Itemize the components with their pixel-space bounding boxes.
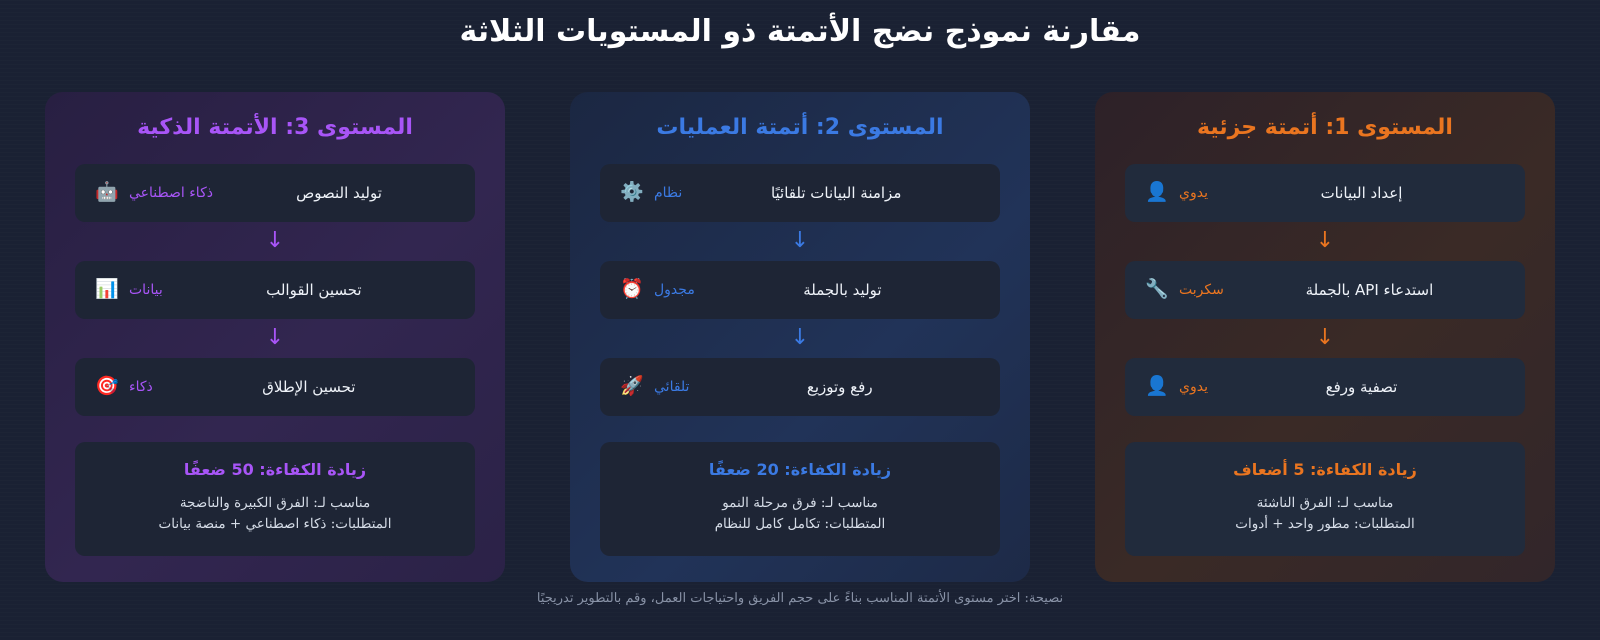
- flow-arrow-down-icon: ↓: [75, 319, 475, 358]
- level-card-3-step-2[interactable]: تحسين القوالب بيانات 📊: [75, 261, 475, 319]
- level-card-2-summary: زيادة الكفاءة: 20 ضعفًا مناسب لـ: فرق مر…: [600, 442, 1000, 556]
- suited-for-line: مناسب لـ: الفرق الناشئة: [1147, 493, 1503, 515]
- robot-icon: 🤖: [95, 183, 119, 202]
- rocket-icon: 🚀: [620, 377, 644, 396]
- level-card-1-step-3[interactable]: تصفية ورفع يدوي 👤: [1125, 358, 1525, 416]
- step-tag: بيانات: [129, 282, 163, 298]
- step-tag: نظام: [654, 185, 682, 201]
- flow-arrow-down-icon: ↓: [600, 319, 1000, 358]
- level-card-2-title: المستوى 2: أتمتة العمليات: [600, 114, 1000, 142]
- step-label: تصفية ورفع: [1218, 378, 1505, 396]
- level-card-2[interactable]: المستوى 2: أتمتة العمليات مزامنة البيانا…: [570, 92, 1030, 582]
- level-card-3-step-1[interactable]: توليد النصوص ذكاء اصطناعي 🤖: [75, 164, 475, 222]
- requirements-line: المتطلبات: تكامل كامل للنظام: [622, 514, 978, 536]
- level-card-3-summary: زيادة الكفاءة: 50 ضعفًا مناسب لـ: الفرق …: [75, 442, 475, 556]
- flow-arrow-down-icon: ↓: [1125, 319, 1525, 358]
- efficiency-headline: زيادة الكفاءة: 5 أضعاف: [1147, 460, 1503, 479]
- suited-for-line: مناسب لـ: فرق مرحلة النمو: [622, 493, 978, 515]
- page-title: مقارنة نموذج نضج الأتمتة ذو المستويات ال…: [0, 0, 1600, 51]
- level-card-2-step-1[interactable]: مزامنة البيانات تلقائيًا نظام ⚙️: [600, 164, 1000, 222]
- efficiency-headline: زيادة الكفاءة: 50 ضعفًا: [97, 460, 453, 479]
- step-label: تحسين الإطلاق: [163, 378, 455, 396]
- flow-arrow-down-icon: ↓: [600, 222, 1000, 261]
- step-label: رفع وتوزيع: [699, 378, 980, 396]
- level-card-3-step-3[interactable]: تحسين الإطلاق ذكاء 🎯: [75, 358, 475, 416]
- maturity-levels-row: المستوى 1: أتمتة جزئية إعداد البيانات يد…: [45, 92, 1555, 582]
- step-label: إعداد البيانات: [1218, 184, 1505, 202]
- step-label: توليد النصوص: [223, 184, 455, 202]
- step-label: مزامنة البيانات تلقائيًا: [692, 184, 980, 202]
- requirements-line: المتطلبات: مطور واحد + أدوات: [1147, 514, 1503, 536]
- gear-icon: ⚙️: [620, 183, 644, 202]
- step-tag: ذكاء اصطناعي: [129, 185, 213, 201]
- step-label: تحسين القوالب: [173, 281, 455, 299]
- level-card-1-step-2[interactable]: استدعاء API بالجملة سكربت 🔧: [1125, 261, 1525, 319]
- page-root: مقارنة نموذج نضج الأتمتة ذو المستويات ال…: [0, 0, 1600, 640]
- flow-arrow-down-icon: ↓: [75, 222, 475, 261]
- footer-tip: نصيحة: اختر مستوى الأتمتة المناسب بناءً …: [0, 591, 1600, 606]
- step-tag: سكربت: [1179, 282, 1224, 298]
- bar-chart-icon: 📊: [95, 280, 119, 299]
- level-card-1-summary: زيادة الكفاءة: 5 أضعاف مناسب لـ: الفرق ا…: [1125, 442, 1525, 556]
- efficiency-headline: زيادة الكفاءة: 20 ضعفًا: [622, 460, 978, 479]
- person-icon: 👤: [1145, 183, 1169, 202]
- level-card-3-title: المستوى 3: الأتمتة الذكية: [75, 114, 475, 142]
- step-tag: مجدول: [654, 282, 695, 298]
- step-tag: تلقائي: [654, 379, 689, 395]
- step-tag: ذكاء: [129, 379, 153, 395]
- alarm-clock-icon: ⏰: [620, 280, 644, 299]
- step-label: توليد بالجملة: [705, 281, 980, 299]
- step-tag: يدوي: [1179, 185, 1208, 201]
- flow-arrow-down-icon: ↓: [1125, 222, 1525, 261]
- step-label: استدعاء API بالجملة: [1234, 281, 1505, 299]
- level-card-3[interactable]: المستوى 3: الأتمتة الذكية توليد النصوص ذ…: [45, 92, 505, 582]
- level-card-1-title: المستوى 1: أتمتة جزئية: [1125, 114, 1525, 142]
- person-icon: 👤: [1145, 377, 1169, 396]
- target-icon: 🎯: [95, 377, 119, 396]
- suited-for-line: مناسب لـ: الفرق الكبيرة والناضجة: [97, 493, 453, 515]
- requirements-line: المتطلبات: ذكاء اصطناعي + منصة بيانات: [97, 514, 453, 536]
- wrench-icon: 🔧: [1145, 280, 1169, 299]
- level-card-1[interactable]: المستوى 1: أتمتة جزئية إعداد البيانات يد…: [1095, 92, 1555, 582]
- level-card-2-step-3[interactable]: رفع وتوزيع تلقائي 🚀: [600, 358, 1000, 416]
- level-card-2-step-2[interactable]: توليد بالجملة مجدول ⏰: [600, 261, 1000, 319]
- level-card-1-step-1[interactable]: إعداد البيانات يدوي 👤: [1125, 164, 1525, 222]
- step-tag: يدوي: [1179, 379, 1208, 395]
